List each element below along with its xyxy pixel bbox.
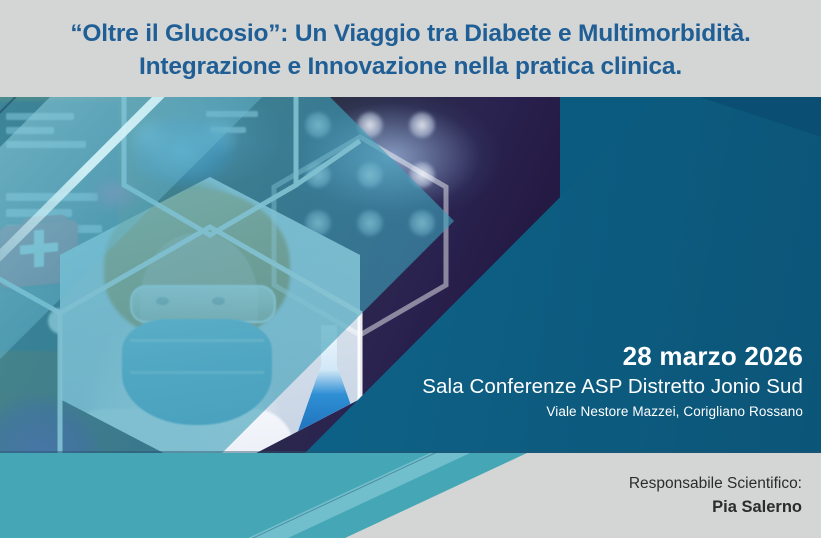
scientific-director-block: Responsabile Scientifico: Pia Salerno	[382, 472, 802, 519]
scientific-director-label: Responsabile Scientifico:	[382, 472, 802, 495]
event-details: 28 marzo 2026 Sala Conferenze ASP Distre…	[243, 340, 803, 422]
safety-goggles-icon	[130, 285, 276, 323]
event-date: 28 marzo 2026	[243, 340, 803, 372]
readout-bar	[6, 141, 86, 148]
brain-scan-icon	[292, 99, 482, 249]
title-line-2: Integrazione e Innovazione nella pratica…	[0, 50, 821, 83]
title-line-1: “Oltre il Glucosio”: Un Viaggio tra Diab…	[70, 20, 750, 47]
event-poster: “Oltre il Glucosio”: Un Viaggio tra Diab…	[0, 0, 821, 538]
highlight-blob	[92, 177, 138, 211]
band-divider	[0, 451, 821, 453]
readout-bar	[6, 113, 74, 120]
scientific-director-name: Pia Salerno	[382, 495, 802, 519]
event-address: Viale Nestore Mazzei, Corigliano Rossano	[243, 402, 803, 422]
event-venue: Sala Conferenze ASP Distretto Jonio Sud	[243, 372, 803, 402]
poster-header: “Oltre il Glucosio”: Un Viaggio tra Diab…	[0, 0, 821, 97]
readout-bar	[6, 127, 54, 134]
page-title: “Oltre il Glucosio”: Un Viaggio tra Diab…	[0, 17, 821, 83]
